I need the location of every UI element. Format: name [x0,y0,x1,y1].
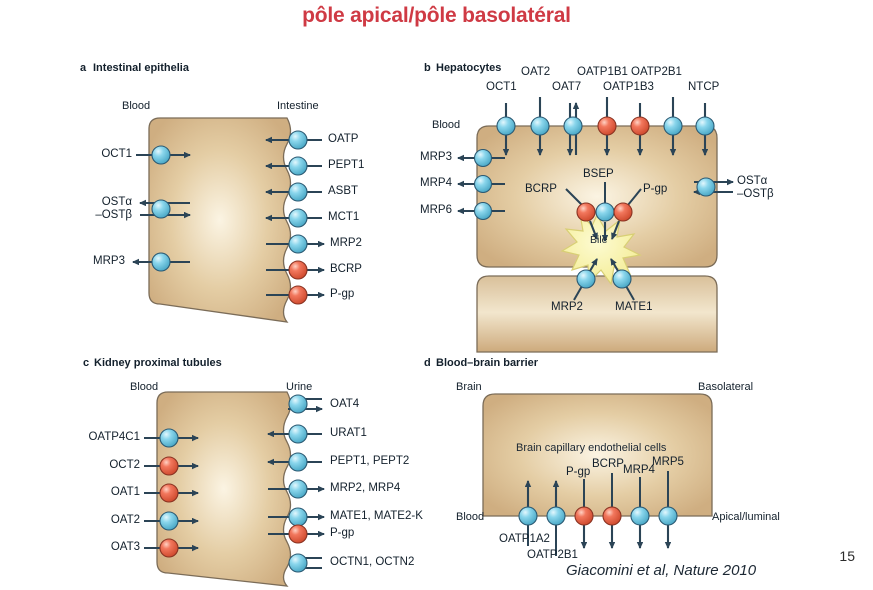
label-c-urat1: URAT1 [330,427,367,440]
transporter-node-b-mate1[interactable] [613,270,631,288]
transporter-node-b-pgp[interactable] [614,203,632,221]
label-b-pgp: P-gp [643,183,667,196]
transporter-node-b-bcrp[interactable] [577,203,595,221]
label-a-asbt: ASBT [328,185,358,198]
transporter-node-b-oat7[interactable] [564,117,582,135]
label-c-octn: OCTN1, OCTN2 [330,556,414,569]
transporter-node-c-octn[interactable] [289,554,307,572]
label-c-oat1: OAT1 [60,486,140,499]
label-c-oat2: OAT2 [60,514,140,527]
panel-c-title: Kidney proximal tubules [94,357,222,369]
label-a-oct1: OCT1 [50,148,132,161]
transporter-node-pgp[interactable] [289,286,307,304]
label-c-oatp4c1: OATP4C1 [60,431,140,444]
label-c-pgp: P-gp [330,527,354,540]
label-b-mrp3: MRP3 [384,151,452,164]
label-b-bile: Bile [590,234,608,246]
transporter-node-c-mate[interactable] [289,508,307,526]
panel-d-basolateral-label: Basolateral [698,381,753,393]
label-a-mct1: MCT1 [328,211,359,224]
label-b-oatp1b1: OATP1B1 [577,66,628,79]
transporter-node-c-oat2[interactable] [160,512,178,530]
label-c-mrp24: MRP2, MRP4 [330,482,400,495]
panel-d-title: Blood–brain barrier [436,357,538,369]
panel-b-blood-label: Blood [432,119,460,131]
label-a-osta-ostb: OSTα –OSTβ [46,196,132,222]
panel-a-title: Intestinal epithelia [93,62,189,74]
transporter-node-d-bcrp[interactable] [603,507,621,525]
label-b-bcrp: BCRP [525,183,557,196]
transporter-node-b-mrp3[interactable] [475,150,492,167]
transporter-node-b-mrp6[interactable] [475,203,492,220]
panel-b-letter: b [424,62,431,74]
slide-canvas: pôle apical/pôle basolatéral [0,0,873,590]
label-b-mrp2: MRP2 [551,301,583,314]
transporter-node-d-pgp[interactable] [575,507,593,525]
label-b-mrp6: MRP6 [384,204,452,217]
panel-a-letter: a [80,62,86,74]
label-a-oatp: OATP [328,133,358,146]
transporter-node-mct1[interactable] [289,209,307,227]
label-b-oat2: OAT2 [521,66,550,79]
label-b-ntcp: NTCP [688,81,719,94]
transporter-node-mrp3[interactable] [152,253,170,271]
label-a-mrp3: MRP3 [48,255,125,268]
label-c-pept: PEPT1, PEPT2 [330,455,409,468]
panel-c-letter: c [83,357,89,369]
panel-d-cell [483,394,712,516]
panel-b-title: Hepatocytes [436,62,501,74]
transporter-node-b-bsep[interactable] [596,203,614,221]
transporter-node-pept1[interactable] [289,157,307,175]
panel-d-letter: d [424,357,431,369]
transporter-node-c-urat1[interactable] [289,425,307,443]
label-a-mrp2: MRP2 [330,237,362,250]
transporter-node-b-mrp4[interactable] [475,176,492,193]
panel-c-blood-label: Blood [130,381,158,393]
transporter-node-d-mrp5[interactable] [659,507,677,525]
transporter-node-b-oat2[interactable] [531,117,549,135]
panel-a-blood-label: Blood [122,100,150,112]
transporter-node-c-oat4[interactable] [289,395,307,413]
label-c-oat3: OAT3 [60,541,140,554]
figure-citation: Giacomini et al, Nature 2010 [566,562,756,579]
panel-d-apical-label: Apical/luminal [712,511,780,523]
panel-a-intestine-label: Intestine [277,100,319,112]
transporter-node-b-oct1[interactable] [497,117,515,135]
panel-c-urine-label: Urine [286,381,312,393]
transporter-node-b-oatp2b1[interactable] [664,117,682,135]
transporter-node-c-oct2[interactable] [160,457,178,475]
label-b-oat7: OAT7 [552,81,581,94]
label-a-pept1: PEPT1 [328,159,364,172]
label-d-oatp1a2: OATP1A2 [499,533,550,546]
label-b-oatp2b1: OATP2B1 [631,66,682,79]
label-a-pgp: P-gp [330,288,354,301]
label-b-mate1: MATE1 [615,301,653,314]
label-d-oatp2b1: OATP2B1 [527,549,578,562]
label-b-mrp4: MRP4 [384,177,452,190]
label-a-bcrp: BCRP [330,263,362,276]
transporter-node-c-oat1[interactable] [160,484,178,502]
transporter-node-b-oatp1b3[interactable] [631,117,649,135]
panel-d-blood-label: Blood [456,511,484,523]
label-b-oatp1b3: OATP1B3 [603,81,654,94]
transporter-node-b-osta-ostb[interactable] [697,178,715,196]
page-number: 15 [839,548,855,564]
label-d-mrp5: MRP5 [652,456,684,469]
transporter-node-osta-ostb[interactable] [152,200,170,218]
label-c-mate: MATE1, MATE2-K [330,510,423,523]
label-d-mrp4: MRP4 [623,464,655,477]
transporter-node-c-oat3[interactable] [160,539,178,557]
label-b-oct1: OCT1 [486,81,517,94]
panel-a-cell [149,118,291,322]
transporter-node-d-oatp1a2[interactable] [519,507,537,525]
transporter-node-mrp2[interactable] [289,235,307,253]
panel-d-cell-caption: Brain capillary endothelial cells [516,442,666,454]
transporter-node-c-mrp24[interactable] [289,480,307,498]
transporter-node-b-ntcp[interactable] [696,117,714,135]
label-b-bsep: BSEP [583,168,614,181]
transporter-node-d-mrp4[interactable] [631,507,649,525]
transporter-node-asbt[interactable] [289,183,307,201]
label-b-osta-ostb: OSTα –OSTβ [737,175,774,201]
transporter-node-bcrp[interactable] [289,261,307,279]
transporter-node-oatp[interactable] [289,131,307,149]
panel-d-brain-label: Brain [456,381,482,393]
transporter-node-b-mrp2[interactable] [577,270,595,288]
label-c-oct2: OCT2 [60,459,140,472]
label-c-oat4: OAT4 [330,398,359,411]
transporter-node-c-pgp[interactable] [289,525,307,543]
transporter-node-c-pept[interactable] [289,453,307,471]
figure-diagram [0,0,873,590]
transporter-node-d-oatp2b1[interactable] [547,507,565,525]
label-d-bcrp: BCRP [592,458,624,471]
label-d-pgp: P-gp [566,466,590,479]
transporter-node-oct1[interactable] [152,146,170,164]
transporter-node-b-oatp1b1[interactable] [598,117,616,135]
transporter-node-c-oatp4c1[interactable] [160,429,178,447]
